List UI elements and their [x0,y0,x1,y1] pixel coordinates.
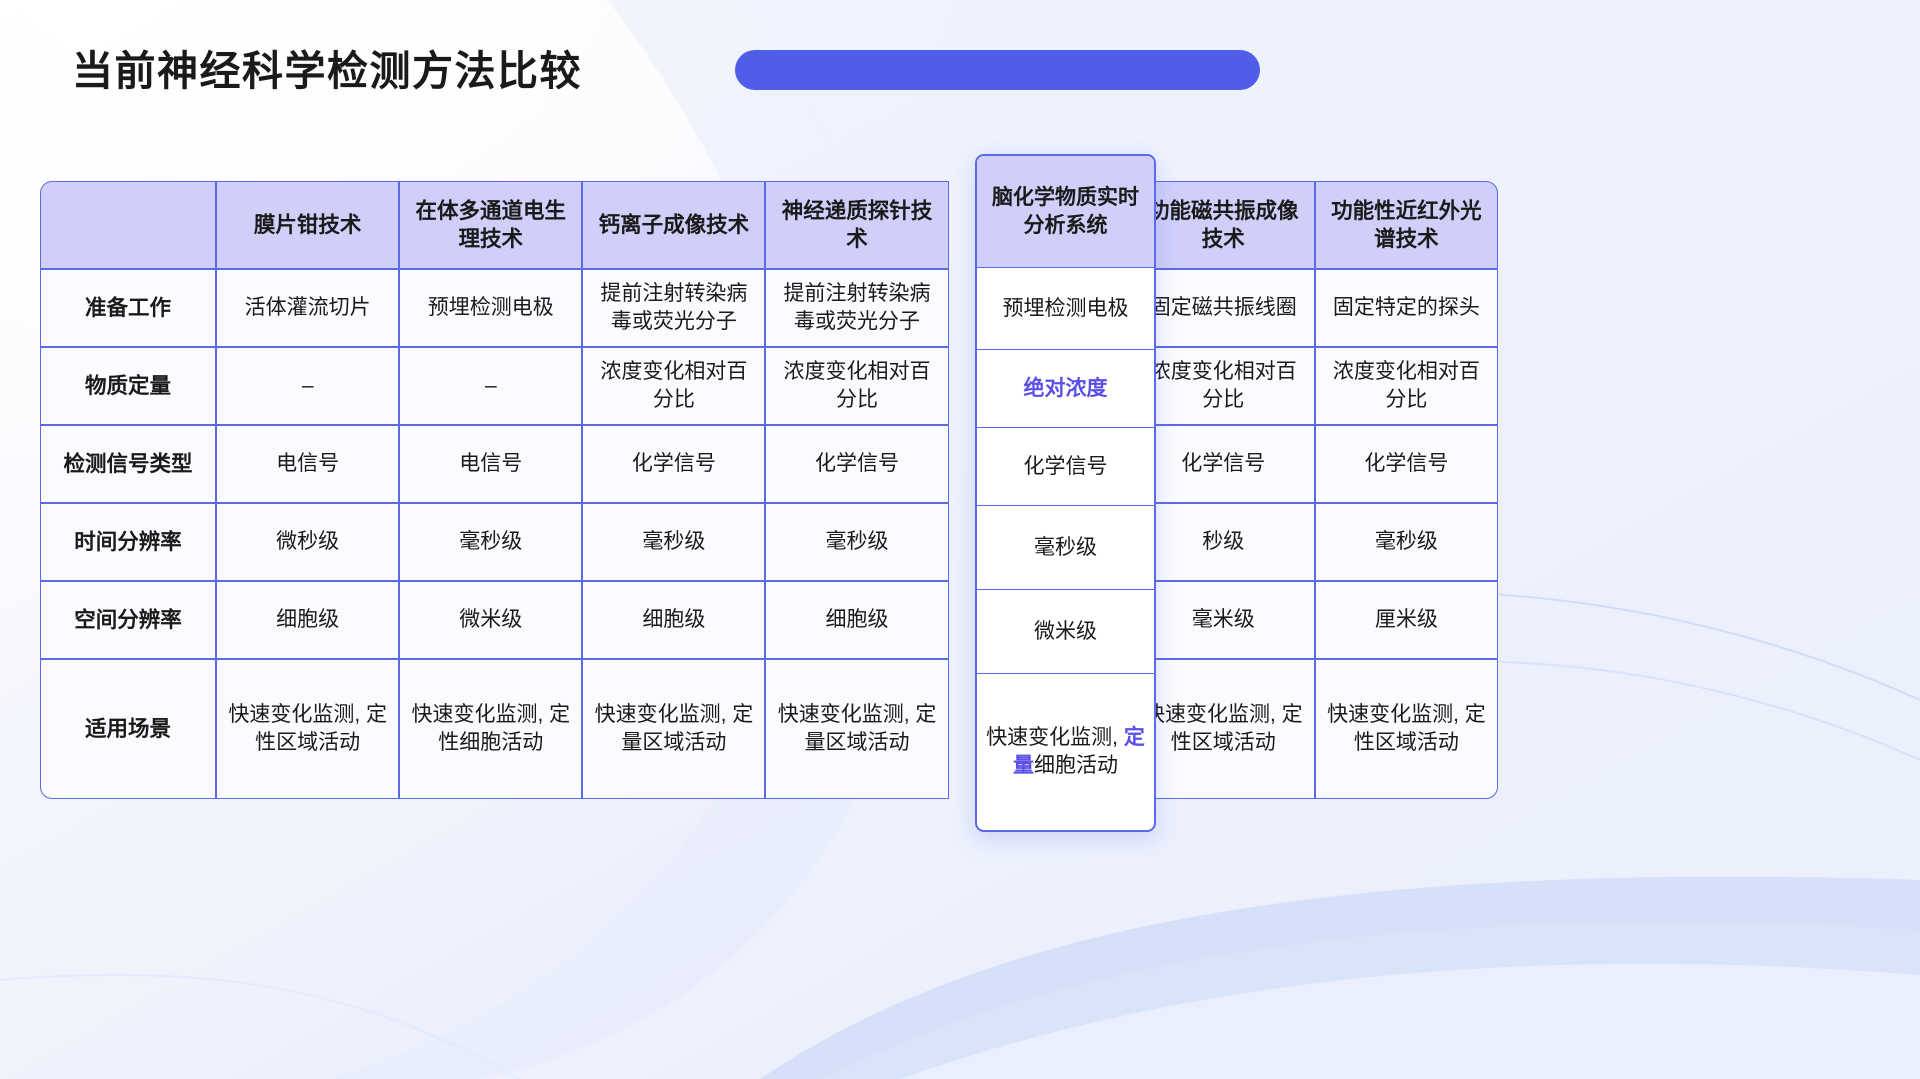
column-header-patch-clamp: 膜片钳技术 [216,181,399,269]
use-text-part4: 活动 [1076,754,1118,777]
cell-sig-6: 化学信号 [1315,425,1498,503]
row-label-spatial-resolution: 空间分辨率 [40,581,216,659]
highlight-cell-use-cases: 快速变化监测, 定量细胞活动 [977,674,1154,830]
cell-space-1: 微米级 [399,581,582,659]
row-label-quantification: 物质定量 [40,347,216,425]
use-text-part1: 快速变化监 [986,726,1091,749]
cell-time-2: 毫秒级 [582,503,765,581]
cell-quant-6: 浓度变化相对百分比 [1315,347,1498,425]
cell-space-3: 细胞级 [765,581,948,659]
page-title: 当前神经科学检测方法比较 [72,37,582,97]
highlighted-column-brain-chem-realtime[interactable]: 脑化学物质实时分析系统 预埋检测电极 绝对浓度 化学信号 毫秒级 微米级 快速变… [975,154,1156,832]
column-header-fnirs: 功能性近红外光谱技术 [1315,181,1498,269]
cell-sig-0: 电信号 [216,425,399,503]
cell-quant-5: 浓度变化相对百分比 [1132,347,1315,425]
cell-use-2: 快速变化监测, 定量区域活动 [582,659,765,799]
row-label-use-cases: 适用场景 [40,659,216,799]
row-label-signal-type: 检测信号类型 [40,425,216,503]
cell-use-1: 快速变化监测, 定性细胞活动 [399,659,582,799]
cell-quant-1: – [399,347,582,425]
cell-space-5: 毫米级 [1132,581,1315,659]
cell-prep-6: 固定特定的探头 [1315,269,1498,347]
use-text-part3: 细胞 [1034,754,1076,777]
cell-time-6: 毫秒级 [1315,503,1498,581]
table-header-row: 膜片钳技术 在体多通道电生理技术 钙离子成像技术 神经递质探针技术 脑化学物质实… [40,181,1498,269]
cell-time-5: 秒级 [1132,503,1315,581]
title-accent-bar [735,50,1260,90]
column-header-fmri: 功能磁共振成像技术 [1132,181,1315,269]
highlight-accent-absolute-concentration: 绝对浓度 [1024,375,1108,403]
cell-time-0: 微秒级 [216,503,399,581]
cell-use-6: 快速变化监测, 定性区域活动 [1315,659,1498,799]
cell-use-5: 快速变化监测, 定性区域活动 [1132,659,1315,799]
cell-quant-2: 浓度变化相对百分比 [582,347,765,425]
cell-use-3: 快速变化监测, 定量区域活动 [765,659,948,799]
cell-time-3: 毫秒级 [765,503,948,581]
cell-prep-3: 提前注射转染病毒或荧光分子 [765,269,948,347]
table-row: 准备工作 活体灌流切片 预埋检测电极 提前注射转染病毒或荧光分子 提前注射转染病… [40,269,1498,347]
table-row: 适用场景 快速变化监测, 定性区域活动 快速变化监测, 定性细胞活动 快速变化监… [40,659,1498,799]
comparison-table: 膜片钳技术 在体多通道电生理技术 钙离子成像技术 神经递质探针技术 脑化学物质实… [40,181,1498,799]
table-row: 时间分辨率 微秒级 毫秒级 毫秒级 毫秒级 毫秒级 秒级 毫秒级 [40,503,1498,581]
cell-space-6: 厘米级 [1315,581,1498,659]
cell-sig-5: 化学信号 [1132,425,1315,503]
table-row: 物质定量 – – 浓度变化相对百分比 浓度变化相对百分比 绝对浓度 浓度变化相对… [40,347,1498,425]
column-header-calcium-imaging: 钙离子成像技术 [582,181,765,269]
highlight-cell-quantification: 绝对浓度 [977,350,1154,428]
highlight-cell-spatial-resolution: 微米级 [977,590,1154,674]
cell-space-2: 细胞级 [582,581,765,659]
highlight-cell-signal-type: 化学信号 [977,428,1154,506]
cell-sig-3: 化学信号 [765,425,948,503]
cell-sig-2: 化学信号 [582,425,765,503]
cell-sig-1: 电信号 [399,425,582,503]
cell-use-0: 快速变化监测, 定性区域活动 [216,659,399,799]
cell-prep-0: 活体灌流切片 [216,269,399,347]
table-row: 空间分辨率 细胞级 微米级 细胞级 细胞级 微米级 毫米级 厘米级 [40,581,1498,659]
cell-quant-3: 浓度变化相对百分比 [765,347,948,425]
highlight-header: 脑化学物质实时分析系统 [977,156,1154,268]
column-header-neurotransmitter-probe: 神经递质探针技术 [765,181,948,269]
cell-space-0: 细胞级 [216,581,399,659]
use-text-part2: 测, [1091,726,1124,749]
row-label-temporal-resolution: 时间分辨率 [40,503,216,581]
table-corner-cell [40,181,216,269]
cell-prep-5: 固定磁共振线圈 [1132,269,1315,347]
highlight-cell-preparation: 预埋检测电极 [977,268,1154,350]
page-header: 当前神经科学检测方法比较 [72,36,582,98]
cell-time-1: 毫秒级 [399,503,582,581]
row-label-preparation: 准备工作 [40,269,216,347]
cell-quant-0: – [216,347,399,425]
highlight-cell-temporal-resolution: 毫秒级 [977,506,1154,590]
cell-prep-1: 预埋检测电极 [399,269,582,347]
table-row: 检测信号类型 电信号 电信号 化学信号 化学信号 化学信号 化学信号 化学信号 [40,425,1498,503]
cell-prep-2: 提前注射转染病毒或荧光分子 [582,269,765,347]
column-header-multichannel-ephys: 在体多通道电生理技术 [399,181,582,269]
